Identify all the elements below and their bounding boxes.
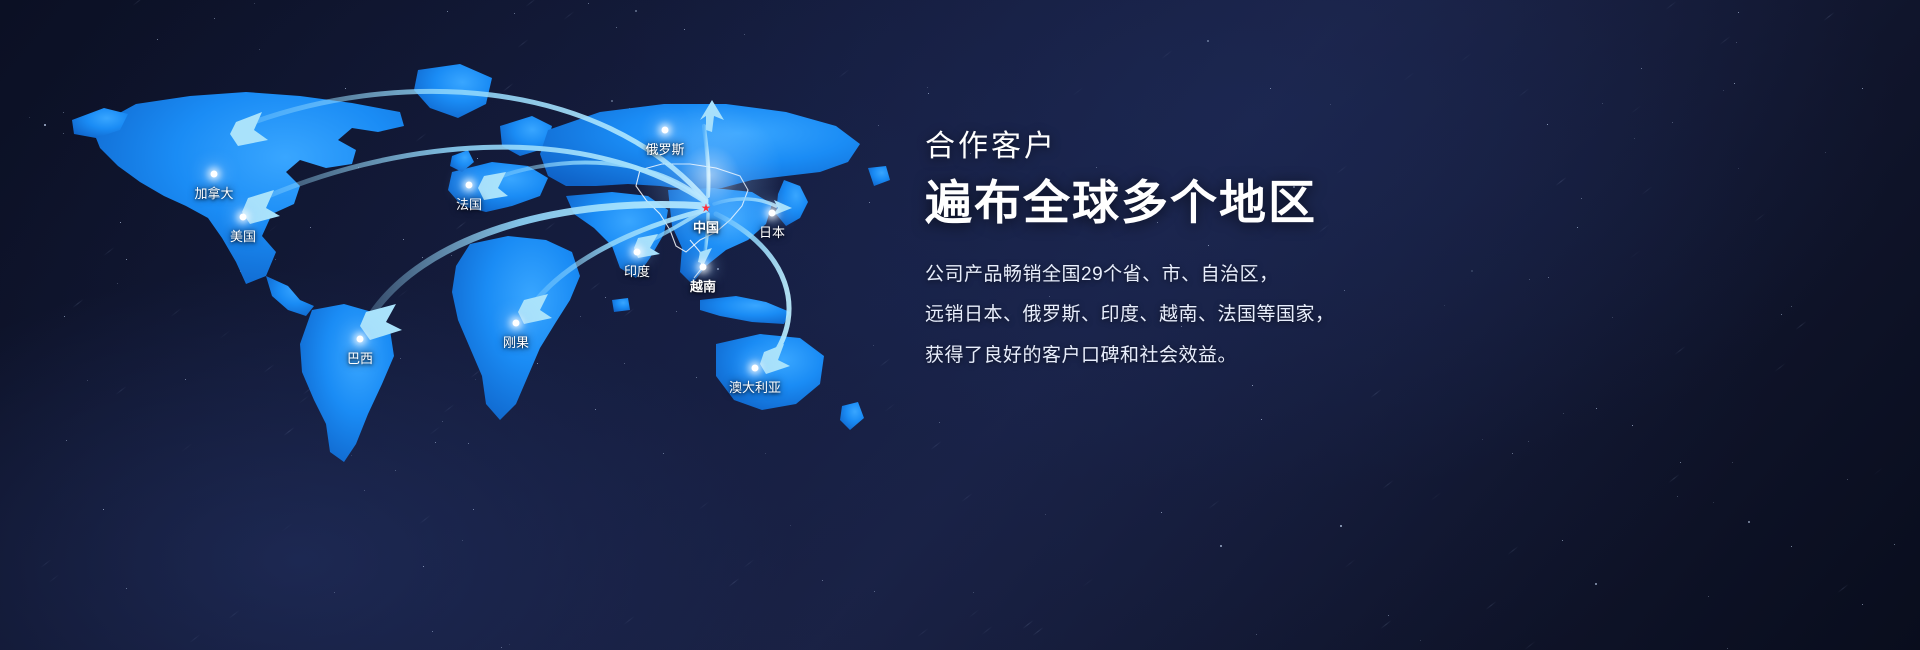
banner-text-panel: 合作客户 遍布全球多个地区 公司产品畅销全国29个省、市、自治区，远销日本、俄罗…: [925, 130, 1485, 384]
description-line: 远销日本、俄罗斯、印度、越南、法国等国家，: [925, 302, 1485, 328]
location-dot-icon: [240, 214, 247, 221]
world-map-banner: 加拿大美国巴西法国俄罗斯中国日本印度越南刚果澳大利亚 合作客户 遍布全球多个地区…: [0, 0, 1920, 650]
description-line: 公司产品畅销全国29个省、市、自治区，: [925, 262, 1485, 288]
map-marker-label: 日本: [759, 226, 785, 239]
eyebrow-title: 合作客户: [925, 130, 1485, 163]
landmass-group: [72, 64, 890, 462]
location-dot-icon: [466, 182, 473, 189]
location-dot-icon: [662, 127, 669, 134]
map-marker-label: 刚果: [503, 336, 529, 349]
map-marker-label: 美国: [230, 230, 256, 243]
description-paragraph: 公司产品畅销全国29个省、市、自治区，远销日本、俄罗斯、印度、越南、法国等国家，…: [925, 262, 1485, 369]
location-dot-icon: [211, 171, 218, 178]
map-marker-label: 中国: [693, 221, 719, 234]
location-dot-icon: [357, 336, 364, 343]
description-line: 获得了良好的客户口碑和社会效益。: [925, 343, 1485, 369]
location-dot-icon: [769, 210, 776, 217]
page-title: 遍布全球多个地区: [925, 177, 1485, 229]
map-marker-label: 印度: [624, 265, 650, 278]
map-marker-label: 巴西: [347, 352, 373, 365]
map-marker-label: 俄罗斯: [645, 143, 684, 156]
world-map: [0, 0, 980, 650]
map-marker-label: 澳大利亚: [729, 381, 781, 394]
location-dot-icon: [513, 320, 520, 327]
location-dot-icon: [700, 264, 707, 271]
map-marker-label: 加拿大: [194, 187, 233, 200]
map-marker-label: 越南: [690, 280, 716, 293]
map-marker-label: 法国: [456, 198, 482, 211]
location-dot-icon: [634, 249, 641, 256]
location-dot-icon: [752, 365, 759, 372]
